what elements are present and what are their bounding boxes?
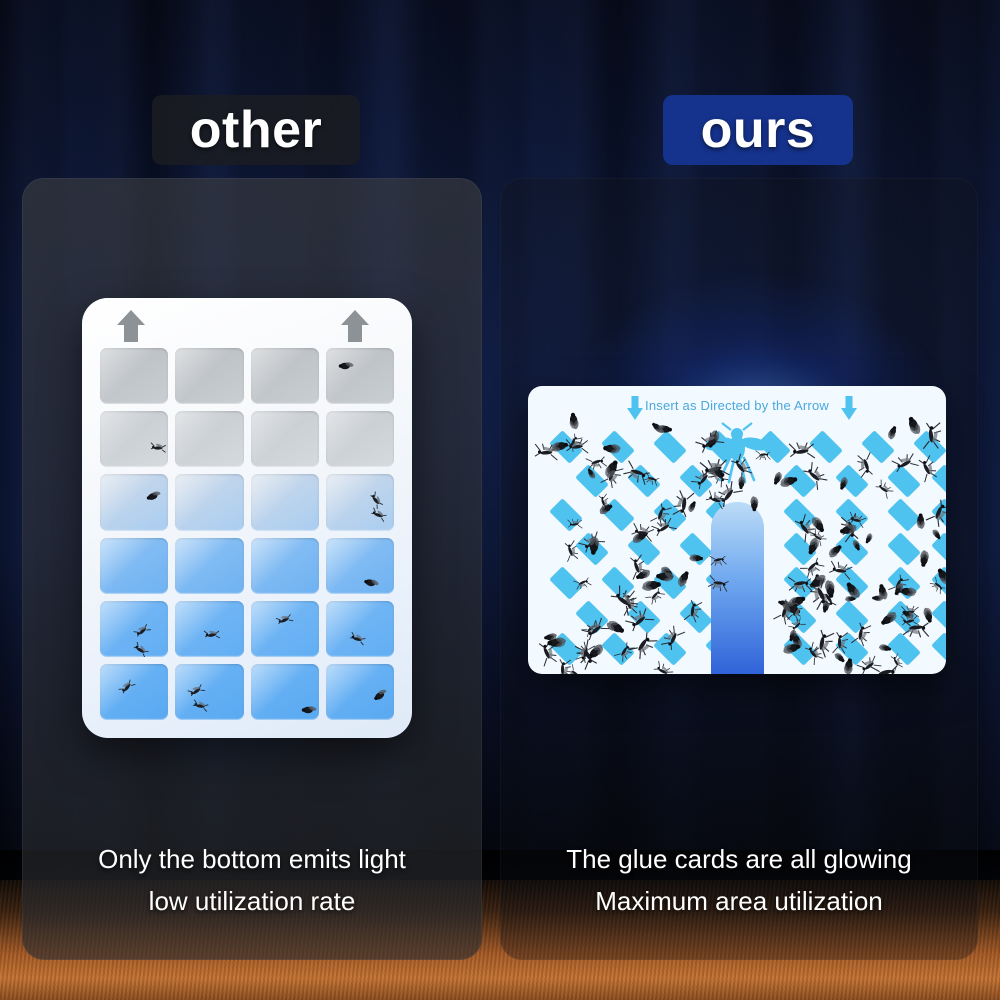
- header-badge-ours: ours: [663, 95, 853, 165]
- tray-cell: [326, 601, 394, 657]
- diamond-tile: [601, 498, 635, 532]
- cell-sheen: [175, 411, 243, 467]
- diamond-tile: [861, 430, 895, 464]
- tray-cell: [326, 474, 394, 530]
- diamond-tile: [887, 632, 921, 666]
- tray-cell: [100, 601, 168, 657]
- diamond-tile: [887, 532, 921, 566]
- cell-sheen: [100, 601, 168, 657]
- tray-cell: [100, 664, 168, 720]
- card-notch-slot: [711, 502, 764, 674]
- diamond-tile: [653, 632, 687, 666]
- diamond-tile: [549, 566, 583, 600]
- cell-sheen: [175, 538, 243, 594]
- cell-sheen: [251, 664, 319, 720]
- cell-sheen: [175, 474, 243, 530]
- cell-sheen: [175, 664, 243, 720]
- diamond-tile: [653, 430, 687, 464]
- diamond-tile: [679, 600, 713, 634]
- tray-cell: [100, 411, 168, 467]
- diamond-tile: [835, 498, 869, 532]
- diamond-tile: [549, 632, 583, 666]
- diamond-tile: [783, 464, 817, 498]
- diamond-tile: [679, 532, 713, 566]
- tray-cell: [175, 664, 243, 720]
- cell-sheen: [326, 474, 394, 530]
- tray-cell: [175, 411, 243, 467]
- diamond-tile: [835, 632, 869, 666]
- arrow-up-icon: [116, 308, 146, 344]
- diamond-tile: [887, 464, 921, 498]
- diamond-tile: [549, 498, 583, 532]
- diamond-tile: [783, 532, 817, 566]
- diamond-tile: [809, 430, 843, 464]
- diamond-tile: [575, 600, 609, 634]
- diamond-tile: [913, 430, 946, 464]
- arrow-up-icon: [340, 308, 370, 344]
- diamond-tile: [931, 632, 946, 666]
- tray-cell: [251, 348, 319, 404]
- cell-sheen: [326, 348, 394, 404]
- cell-sheen: [100, 538, 168, 594]
- cell-sheen: [251, 474, 319, 530]
- mosquito-icon: [704, 422, 770, 484]
- diamond-tile: [887, 566, 921, 600]
- cell-sheen: [251, 601, 319, 657]
- tray-cell: [100, 348, 168, 404]
- caption-ours: The glue cards are all glowing Maximum a…: [500, 838, 978, 922]
- diamond-tile: [627, 600, 661, 634]
- diamond-tile: [931, 532, 946, 566]
- cell-sheen: [100, 474, 168, 530]
- tray-cell: [251, 474, 319, 530]
- cell-sheen: [326, 664, 394, 720]
- diamond-tile: [601, 430, 635, 464]
- diamond-tile: [575, 532, 609, 566]
- diamond-tile: [601, 566, 635, 600]
- tray-cell-grid: [100, 348, 394, 720]
- diamond-tile: [627, 532, 661, 566]
- diamond-tile: [653, 498, 687, 532]
- caption-other-line1: Only the bottom emits light: [22, 838, 482, 880]
- tray-cell: [175, 601, 243, 657]
- comparison-infographic: Insert as Directed by the Arrow other ou…: [0, 0, 1000, 1000]
- caption-other-line2: low utilization rate: [22, 880, 482, 922]
- our-product-glue-card: Insert as Directed by the Arrow: [528, 386, 946, 674]
- caption-other: Only the bottom emits light low utilizat…: [22, 838, 482, 922]
- diamond-tile: [627, 464, 661, 498]
- diamond-tile: [783, 632, 817, 666]
- cell-sheen: [100, 664, 168, 720]
- cell-sheen: [251, 538, 319, 594]
- cell-sheen: [251, 411, 319, 467]
- diamond-tile: [887, 600, 921, 634]
- other-product-grid-tray: [82, 298, 412, 738]
- diamond-tile: [575, 464, 609, 498]
- cell-sheen: [251, 348, 319, 404]
- tray-arrow-row: [82, 308, 412, 350]
- diamond-tile: [783, 566, 817, 600]
- tray-cell: [326, 538, 394, 594]
- tray-cell: [326, 348, 394, 404]
- tray-cell: [251, 538, 319, 594]
- diamond-tile: [931, 498, 946, 532]
- tray-cell: [326, 664, 394, 720]
- diamond-tile: [549, 430, 583, 464]
- caption-ours-line1: The glue cards are all glowing: [500, 838, 978, 880]
- tray-cell: [100, 538, 168, 594]
- cell-sheen: [326, 411, 394, 467]
- diamond-tile: [931, 566, 946, 600]
- cell-sheen: [100, 348, 168, 404]
- cell-sheen: [175, 601, 243, 657]
- diamond-tile: [931, 464, 946, 498]
- diamond-tile: [601, 632, 635, 666]
- cell-sheen: [175, 348, 243, 404]
- tray-cell: [100, 474, 168, 530]
- diamond-tile: [887, 498, 921, 532]
- tray-cell: [326, 411, 394, 467]
- diamond-tile: [835, 464, 869, 498]
- tray-cell: [251, 411, 319, 467]
- caption-ours-line2: Maximum area utilization: [500, 880, 978, 922]
- diamond-tile: [835, 532, 869, 566]
- diamond-tile: [783, 600, 817, 634]
- cell-sheen: [100, 411, 168, 467]
- tray-cell: [251, 601, 319, 657]
- diamond-tile: [783, 498, 817, 532]
- tray-cell: [175, 348, 243, 404]
- diamond-tile: [835, 600, 869, 634]
- tray-cell: [251, 664, 319, 720]
- cell-sheen: [326, 538, 394, 594]
- header-badge-other: other: [152, 95, 360, 165]
- diamond-tile: [653, 566, 687, 600]
- diamond-tile: [931, 600, 946, 634]
- tray-cell: [175, 538, 243, 594]
- tray-cell: [175, 474, 243, 530]
- cell-sheen: [326, 601, 394, 657]
- diamond-tile: [835, 566, 869, 600]
- card-instruction-text: Insert as Directed by the Arrow: [528, 398, 946, 413]
